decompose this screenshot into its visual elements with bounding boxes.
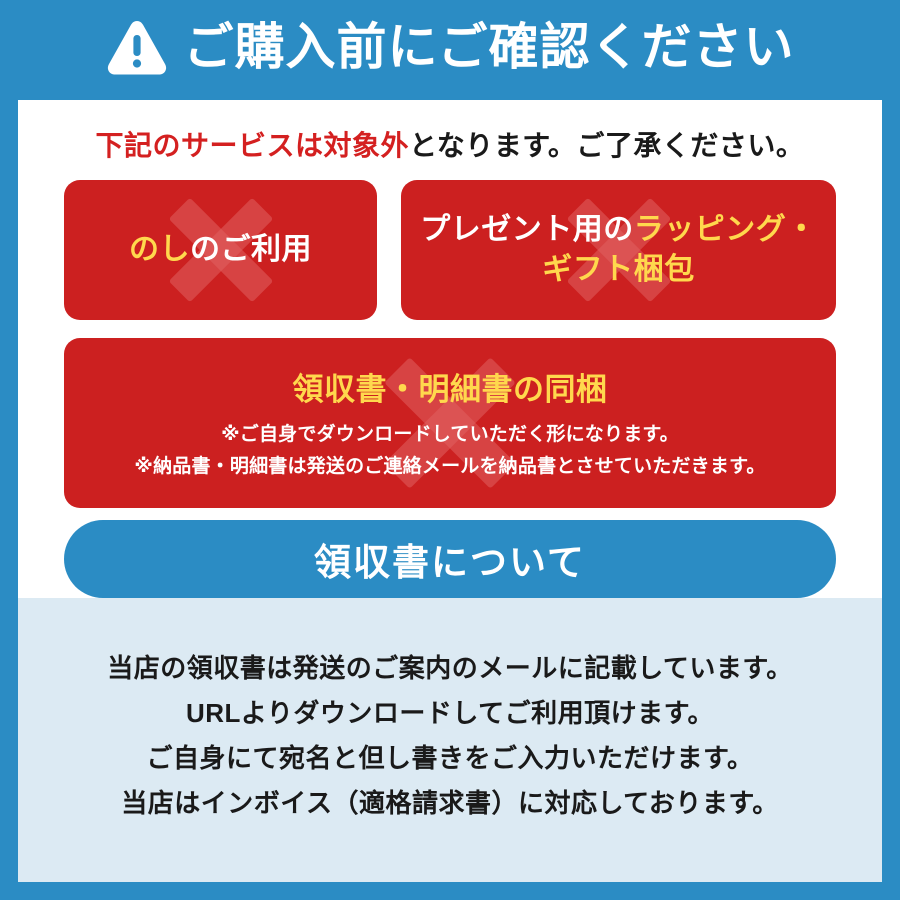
warning-triangle-icon — [106, 18, 168, 76]
notice-banner: ご購入前にご確認ください 下記のサービスは対象外となります。ご了承ください。 の… — [0, 0, 900, 900]
card-noshi-text: のしのご利用 — [129, 230, 312, 271]
card-receipt-heading: 領収書・明細書の同梱 — [293, 364, 608, 409]
card-receipt-enclosure: 領収書・明細書の同梱 ※ご自身でダウンロードしていただく形になります。 ※納品書… — [64, 338, 836, 508]
subtitle: 下記のサービスは対象外となります。ご了承ください。 — [18, 100, 882, 180]
subtitle-accent: 下記のサービスは対象外 — [96, 130, 410, 161]
card-noshi-highlight: のし — [129, 233, 190, 266]
section-title-text: 領収書について — [314, 532, 586, 586]
card-wrapping-text: プレゼント用のラッピング・ ギフト梱包 — [420, 210, 817, 291]
excluded-services-list: のしのご利用 プレゼント用のラッピング・ ギフト梱包 — [18, 180, 882, 508]
card-receipt-note-2: ※納品書・明細書は発送のご連絡メールを納品書とさせていただきます。 — [134, 451, 765, 482]
page-title: ご購入前にご確認ください — [184, 22, 795, 72]
card-wrapping-line-2: ギフト梱包 — [420, 250, 817, 291]
section-title-wrap: 領収書について — [18, 508, 882, 598]
card-noshi-plain: のご利用 — [190, 233, 312, 266]
body-line-4: 当店はインボイス（適格請求書）に対応しております。 — [121, 788, 779, 819]
card-row-top: のしのご利用 プレゼント用のラッピング・ ギフト梱包 — [64, 180, 836, 320]
body-line-3: ご自身にて宛名と但し書きをご入力いただけます。 — [147, 743, 754, 774]
card-wrapping-line-1: プレゼント用のラッピング・ — [420, 210, 817, 251]
body-line-1: 当店の領収書は発送のご案内のメールに記載しています。 — [107, 653, 793, 684]
card-wrapping-plain: プレゼント用の — [420, 213, 634, 246]
card-wrapping: プレゼント用のラッピング・ ギフト梱包 — [401, 180, 836, 320]
content-panel: 下記のサービスは対象外となります。ご了承ください。 のしのご利用 — [18, 100, 882, 882]
card-receipt-note-1: ※ご自身でダウンロードしていただく形になります。 — [221, 419, 679, 450]
card-noshi: のしのご利用 — [64, 180, 377, 320]
body-line-2: URLよりダウンロードしてご利用頂けます。 — [186, 698, 714, 729]
section-body: 当店の領収書は発送のご案内のメールに記載しています。 URLよりダウンロードして… — [18, 598, 882, 882]
card-wrapping-highlight-2: ギフト梱包 — [542, 253, 695, 286]
card-wrapping-highlight-1: ラッピング・ — [634, 213, 817, 246]
section-title-pill: 領収書について — [64, 520, 836, 598]
banner-header: ご購入前にご確認ください — [18, 0, 882, 100]
subtitle-rest: となります。ご了承ください。 — [409, 130, 804, 161]
